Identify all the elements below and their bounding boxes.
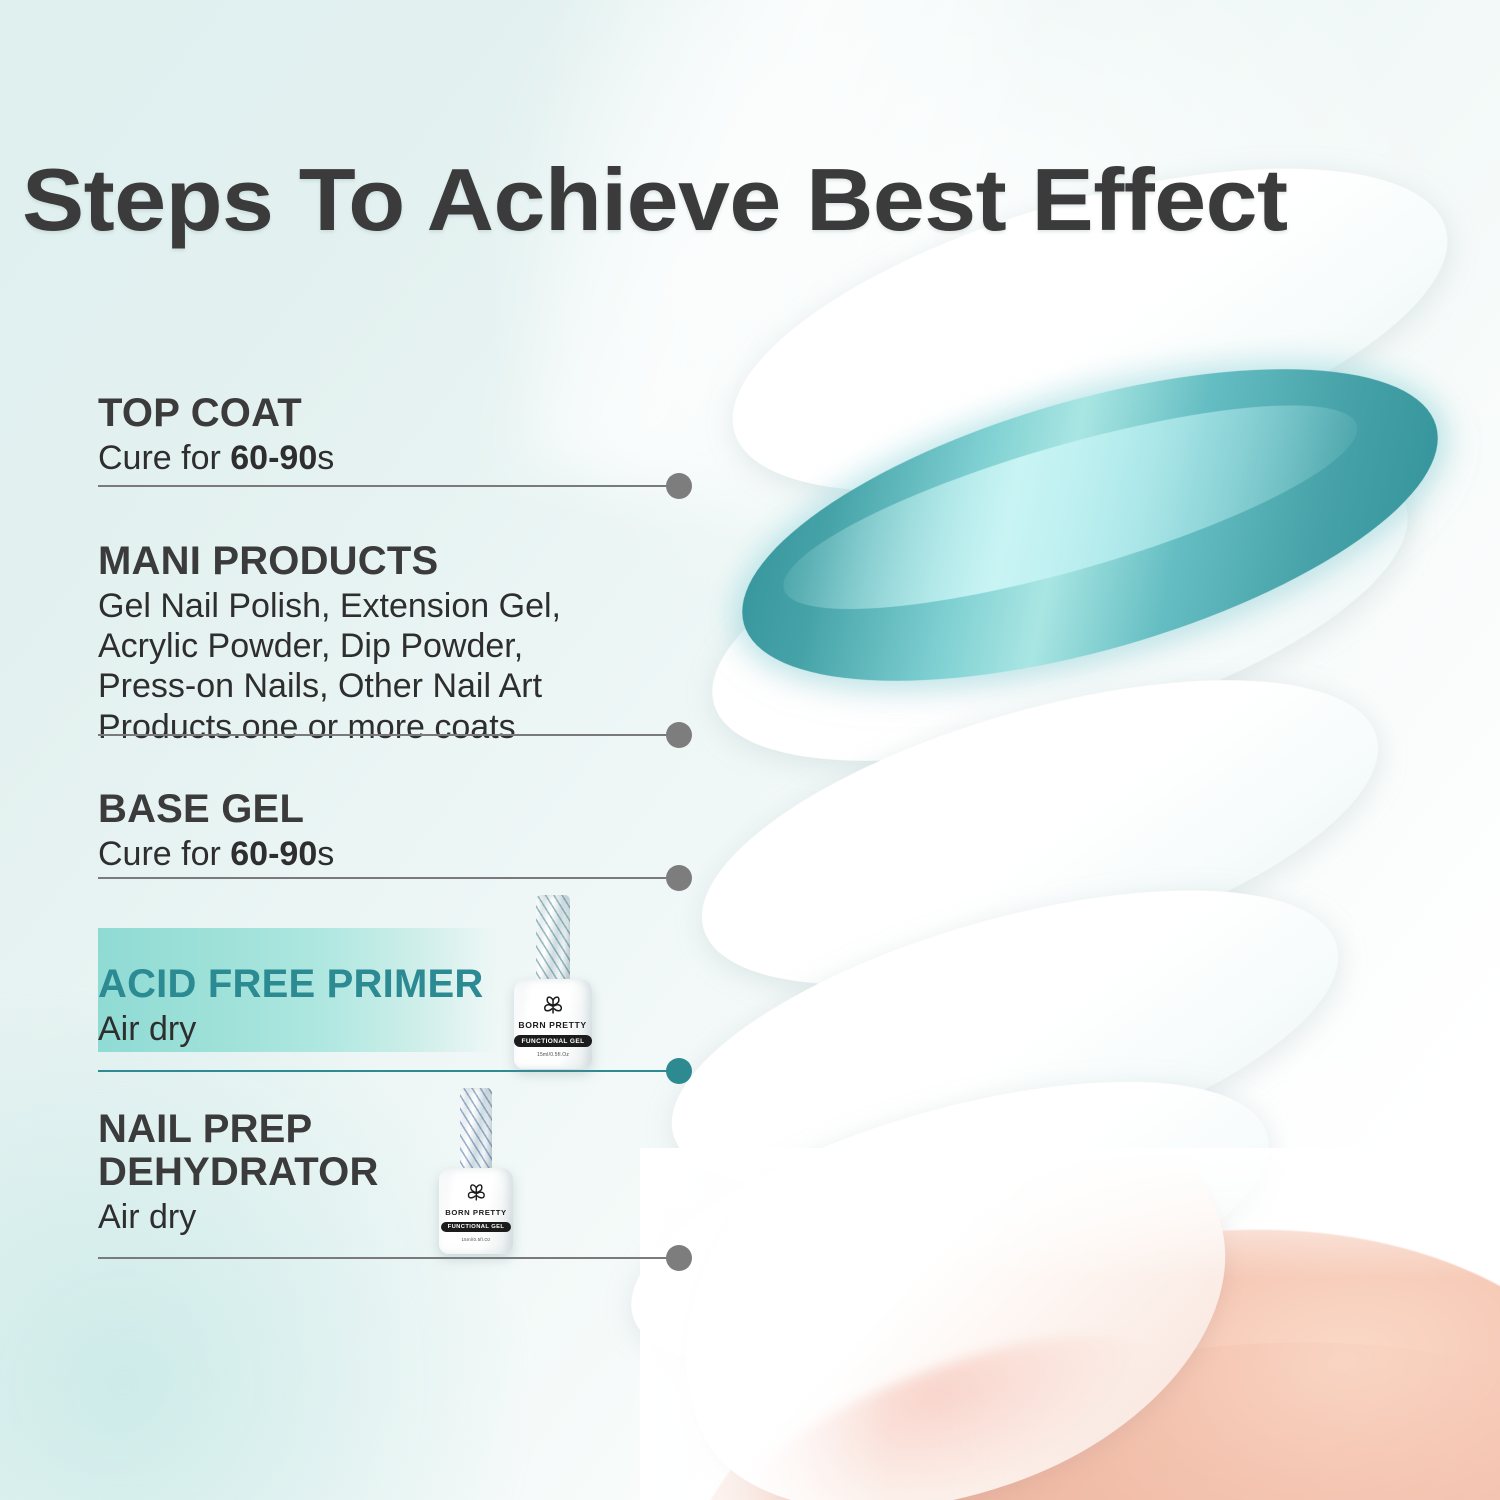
steps-list: TOP COAT Cure for 60-90s MANI PRODUCTS G… bbox=[0, 0, 1500, 1500]
connector-dot bbox=[666, 1058, 692, 1084]
step-heading: TOP COAT bbox=[98, 392, 334, 435]
infographic-canvas: Steps To Achieve Best Effect TOP COAT Cu… bbox=[0, 0, 1500, 1500]
step-sub-prefix: Cure for bbox=[98, 439, 230, 477]
connector-line bbox=[98, 1257, 678, 1259]
connector-line bbox=[98, 1070, 678, 1072]
connector-dot bbox=[666, 865, 692, 891]
connector-line bbox=[98, 877, 678, 879]
step-subtext: Air dry bbox=[98, 1009, 483, 1049]
step-nail-prep-dehydrator: NAIL PREP DEHYDRATOR Air dry bbox=[98, 1108, 379, 1237]
step-heading: MANI PRODUCTS bbox=[98, 540, 561, 583]
connector-line bbox=[98, 485, 678, 487]
step-sub-strong: 60-90 bbox=[230, 835, 317, 873]
step-subtext: Gel Nail Polish, Extension Gel, Acrylic … bbox=[98, 586, 561, 746]
step-acid-free-primer: ACID FREE PRIMER Air dry bbox=[98, 963, 483, 1049]
step-top-coat: TOP COAT Cure for 60-90s bbox=[98, 392, 334, 478]
connector-line bbox=[98, 734, 678, 736]
step-sub-prefix: Cure for bbox=[98, 835, 230, 873]
step-sub-suffix: s bbox=[317, 835, 334, 873]
step-subtext: Cure for 60-90s bbox=[98, 438, 334, 478]
step-subtext: Cure for 60-90s bbox=[98, 834, 334, 874]
step-mani-products: MANI PRODUCTS Gel Nail Polish, Extension… bbox=[98, 540, 561, 747]
connector-dot bbox=[666, 722, 692, 748]
step-subtext: Air dry bbox=[98, 1197, 379, 1237]
step-base-gel: BASE GEL Cure for 60-90s bbox=[98, 788, 334, 874]
connector-dot bbox=[666, 473, 692, 499]
step-heading: NAIL PREP DEHYDRATOR bbox=[98, 1108, 379, 1194]
connector-dot bbox=[666, 1245, 692, 1271]
step-sub-suffix: s bbox=[317, 439, 334, 477]
step-sub-strong: 60-90 bbox=[230, 439, 317, 477]
step-heading: BASE GEL bbox=[98, 788, 334, 831]
step-heading: ACID FREE PRIMER bbox=[98, 963, 483, 1006]
